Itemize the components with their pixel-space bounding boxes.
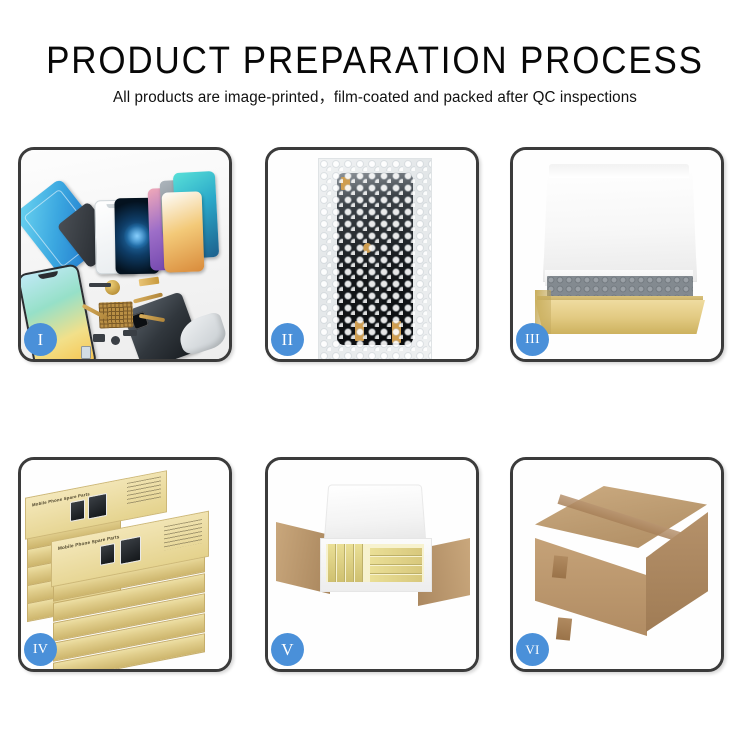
white-box-lid-icon bbox=[543, 164, 697, 282]
process-step-4: Mobile Phone Spare Parts bbox=[18, 457, 232, 672]
step-numeral: I bbox=[38, 331, 44, 348]
step-numeral: V bbox=[281, 641, 294, 658]
step-numeral: III bbox=[525, 331, 540, 348]
step-panel: II bbox=[265, 147, 479, 362]
foam-cooler-lid-icon bbox=[324, 485, 427, 545]
button-icon bbox=[111, 336, 120, 345]
process-step-5: V bbox=[265, 457, 479, 672]
step-number-badge: I bbox=[24, 323, 57, 356]
bubble-texture-overlay bbox=[319, 159, 431, 359]
process-step-2: II bbox=[265, 147, 479, 362]
step-number-badge: V bbox=[271, 633, 304, 666]
packed-box-strip bbox=[346, 544, 354, 582]
bubble-wrap-bag-icon bbox=[318, 158, 432, 359]
product-thumbnail-icon bbox=[70, 499, 85, 522]
chip-icon bbox=[123, 330, 137, 336]
page-title: PRODUCT PREPARATION PROCESS bbox=[30, 42, 720, 80]
step-number-badge: II bbox=[271, 323, 304, 356]
product-preparation-process-infographic: PRODUCT PREPARATION PROCESS All products… bbox=[0, 0, 750, 750]
packed-boxes-icon bbox=[326, 544, 424, 582]
process-steps-grid: I bbox=[18, 147, 732, 677]
step-panel: Mobile Phone Spare Parts bbox=[18, 457, 232, 672]
step-panel: VI bbox=[510, 457, 724, 672]
step-numeral: VI bbox=[525, 641, 539, 658]
packed-box-strip bbox=[328, 544, 336, 582]
packed-box-strip bbox=[370, 566, 422, 574]
packed-box-strip bbox=[337, 544, 345, 582]
box-lid-edge bbox=[549, 164, 689, 178]
step-panel: III bbox=[510, 147, 724, 362]
chip-icon bbox=[93, 334, 105, 342]
gold-contact-icon bbox=[139, 277, 160, 287]
tape-seal-icon bbox=[556, 617, 572, 640]
product-thumbnail-icon bbox=[120, 536, 141, 565]
process-step-6: VI bbox=[510, 457, 724, 672]
product-thumbnail-icon bbox=[100, 543, 115, 566]
packed-box-strip bbox=[370, 557, 422, 565]
kraft-box-front-icon bbox=[535, 300, 705, 334]
sim-tray-icon bbox=[81, 346, 91, 359]
product-thumbnail-icon bbox=[88, 493, 107, 520]
page-subtitle: All products are image-printed，film-coat… bbox=[8, 88, 743, 108]
step-panel: V bbox=[265, 457, 479, 672]
step-numeral: IV bbox=[33, 641, 48, 658]
step-number-badge: VI bbox=[516, 633, 549, 666]
carton-left-face-icon bbox=[535, 538, 647, 636]
step-panel: I bbox=[18, 147, 232, 362]
chip-icon bbox=[89, 283, 111, 287]
process-step-1: I bbox=[18, 147, 232, 362]
tape-seal-icon bbox=[552, 555, 568, 578]
step-number-badge: III bbox=[516, 323, 549, 356]
packed-box-strip bbox=[370, 548, 422, 556]
packed-box-strip bbox=[355, 544, 363, 582]
step-numeral: II bbox=[282, 331, 294, 348]
step-number-badge: IV bbox=[24, 633, 57, 666]
carton-body-icon bbox=[306, 586, 442, 652]
process-step-3: III bbox=[510, 147, 724, 362]
amber-gradient-phone-icon bbox=[162, 191, 205, 272]
